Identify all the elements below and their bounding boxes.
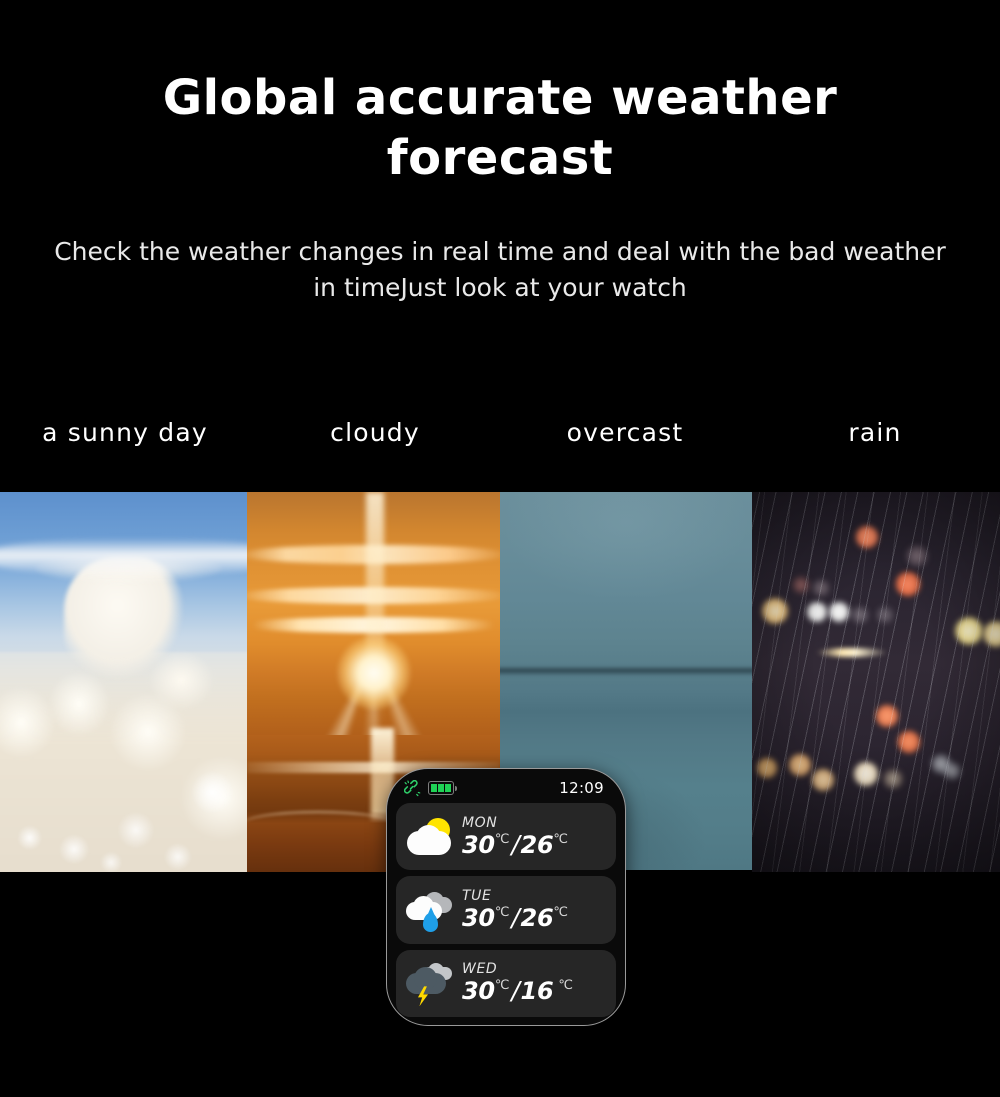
photo-sunny-day [0, 492, 247, 872]
forecast-temperature: 30 ℃ / 26 ℃ [462, 831, 610, 859]
sun-disc-shape [337, 636, 411, 710]
forecast-row-tue[interactable]: TUE 30 ℃ / 26 ℃ [396, 876, 616, 943]
broken-link-icon [404, 780, 421, 797]
smartwatch-weather-widget[interactable]: 12:09 MON 30 ℃ / 26 ℃ [386, 768, 626, 1026]
foam-edge-shape [247, 811, 394, 838]
forecast-text: MON 30 ℃ / 26 ℃ [462, 815, 610, 859]
forecast-row-mon[interactable]: MON 30 ℃ / 26 ℃ [396, 803, 616, 870]
page-subtitle: Check the weather changes in real time a… [50, 234, 950, 306]
temp-separator: / [511, 977, 519, 1005]
cloud-with-raindrop-icon [404, 887, 456, 933]
temp-high-unit: ℃ [495, 972, 510, 1000]
temp-high-unit: ℃ [495, 899, 510, 927]
temp-low: 26 [521, 904, 554, 932]
temp-low-unit: ℃ [553, 826, 568, 854]
category-label-rain: rain [750, 418, 1000, 458]
temp-separator: / [511, 831, 519, 859]
page-title: Global accurate weather forecast [100, 68, 900, 188]
haze-band-shape [0, 538, 247, 576]
temp-low-unit: ℃ [558, 972, 573, 1000]
status-icons [404, 780, 454, 797]
status-time: 12:09 [559, 779, 604, 797]
vignette-shape [752, 492, 1000, 872]
forecast-temperature: 30 ℃ / 26 ℃ [462, 904, 610, 932]
forecast-list: MON 30 ℃ / 26 ℃ TUE 30 ℃ [394, 800, 618, 1017]
hero-header: Global accurate weather forecast Check t… [0, 0, 1000, 306]
weather-category-labels: a sunny day cloudy overcast rain [0, 418, 1000, 458]
temp-low-unit: ℃ [553, 899, 568, 927]
temp-low: 26 [521, 831, 554, 859]
forecast-day-label: WED [462, 961, 610, 977]
thunderstorm-cloud-icon [404, 960, 456, 1006]
category-label-overcast: overcast [500, 418, 750, 458]
temp-high: 30 [462, 831, 495, 859]
temp-high: 30 [462, 977, 495, 1005]
category-label-cloudy: cloudy [250, 418, 500, 458]
forecast-text: TUE 30 ℃ / 26 ℃ [462, 888, 610, 932]
horizon-line-shape [500, 666, 752, 676]
category-label-sunny: a sunny day [0, 418, 250, 458]
temp-separator: / [511, 904, 519, 932]
forecast-day-label: TUE [462, 888, 610, 904]
forecast-row-wed[interactable]: WED 30 ℃ / 16 ℃ [396, 950, 616, 1017]
photo-rain [752, 492, 1000, 872]
watch-status-bar: 12:09 [394, 776, 618, 800]
battery-icon [428, 781, 454, 795]
sun-behind-cloud-icon [404, 814, 456, 860]
forecast-day-label: MON [462, 815, 610, 831]
temp-high-unit: ℃ [495, 826, 510, 854]
forecast-temperature: 30 ℃ / 16 ℃ [462, 977, 610, 1005]
forecast-text: WED 30 ℃ / 16 ℃ [462, 961, 610, 1005]
temp-high: 30 [462, 904, 495, 932]
temp-low: 16 [521, 977, 554, 1005]
cloud-puffs-shape [0, 682, 247, 872]
